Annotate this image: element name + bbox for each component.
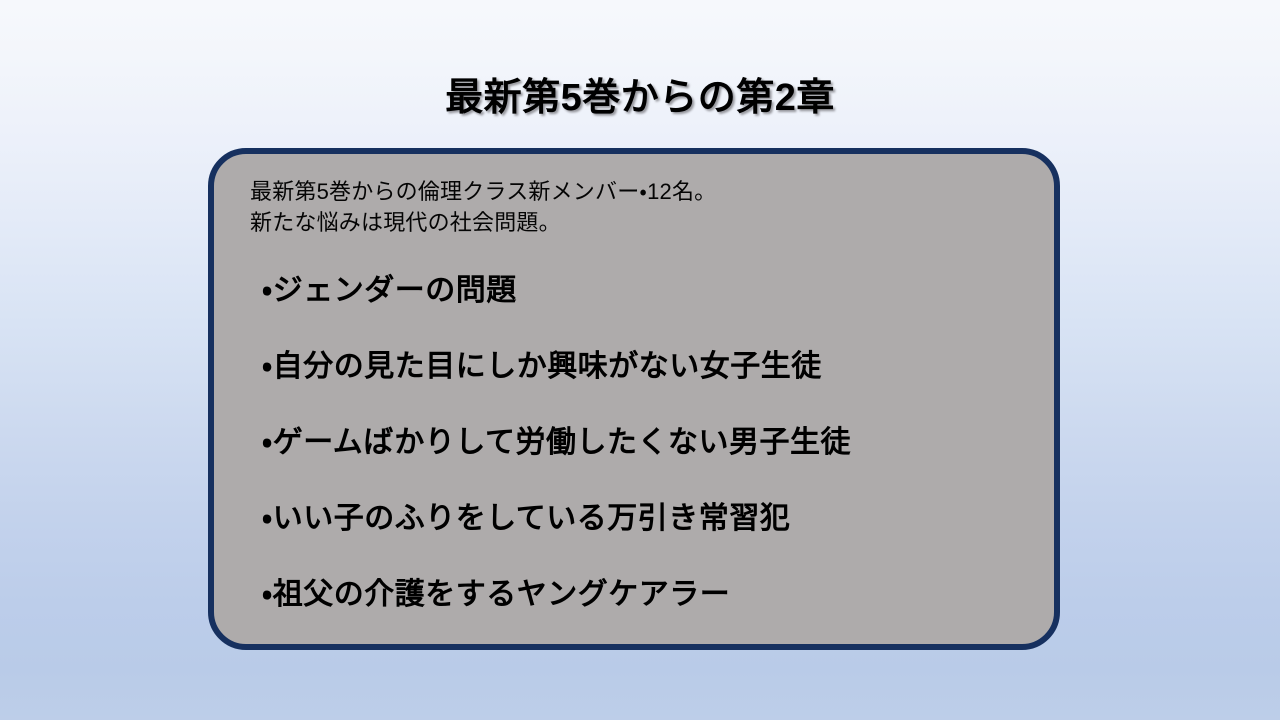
slide-canvas: 最新第5巻からの第2章 最新第5巻からの倫理クラス新メンバー・12名。 新たな悩… xyxy=(0,0,1280,720)
list-item: ・自分の見た目にしか興味がない女子生徒 xyxy=(262,328,1024,404)
intro-line-1: 最新第5巻からの倫理クラス新メンバー・12名。 xyxy=(250,176,1024,207)
panel-inner: 最新第5巻からの倫理クラス新メンバー・12名。 新たな悩みは現代の社会問題。 ・… xyxy=(214,154,1054,644)
list-item: ・ゲームばかりして労働したくない男子生徒 xyxy=(262,404,1024,480)
page-title: 最新第5巻からの第2章 xyxy=(0,66,1280,121)
list-item: ・ジェンダーの問題 xyxy=(262,252,1024,328)
list-item: ・祖父の介護をするヤングケアラー xyxy=(262,556,1024,632)
intro-line-2: 新たな悩みは現代の社会問題。 xyxy=(250,207,1024,238)
bullet-list: ・ジェンダーの問題 ・自分の見た目にしか興味がない女子生徒 ・ゲームばかりして労… xyxy=(250,252,1024,632)
intro-block: 最新第5巻からの倫理クラス新メンバー・12名。 新たな悩みは現代の社会問題。 xyxy=(250,176,1024,238)
content-panel: 最新第5巻からの倫理クラス新メンバー・12名。 新たな悩みは現代の社会問題。 ・… xyxy=(208,148,1060,650)
list-item: ・いい子のふりをしている万引き常習犯 xyxy=(262,480,1024,556)
